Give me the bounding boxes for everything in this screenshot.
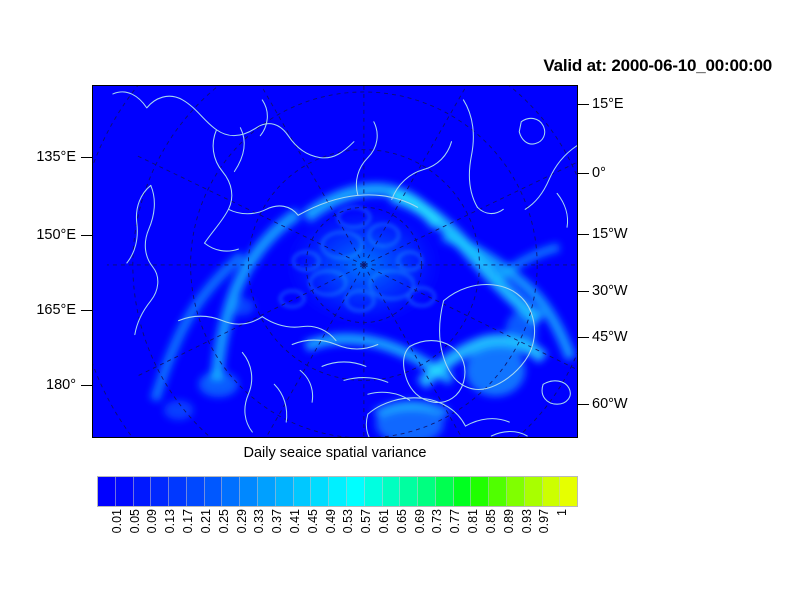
axis-tick-right-1: [578, 173, 589, 174]
colorbar-tick-0.93: 0.93: [521, 509, 534, 533]
colorbar-tick-0.81: 0.81: [467, 509, 480, 533]
axis-tick-right-2: [578, 234, 589, 235]
colorbar-band-24: [525, 477, 543, 506]
colorbar-tick-0.21: 0.21: [200, 509, 213, 533]
colorbar-band-1: [116, 477, 134, 506]
axis-tick-right-4: [578, 337, 589, 338]
colorbar-band-22: [489, 477, 507, 506]
colorbar-band-11: [294, 477, 312, 506]
colorbar-band-26: [560, 477, 577, 506]
colorbar-tick-0.05: 0.05: [129, 509, 142, 533]
map-svg: [93, 86, 577, 437]
axis-tick-left-0: [81, 157, 92, 158]
colorbar-band-14: [347, 477, 365, 506]
axis-tick-left-2: [81, 310, 92, 311]
colorbar-tick-0.29: 0.29: [236, 509, 249, 533]
colorbar-band-0: [98, 477, 116, 506]
axis-tick-right-3: [578, 291, 589, 292]
colorbar-tick-0.53: 0.53: [342, 509, 355, 533]
colorbar-tick-0.97: 0.97: [538, 509, 551, 533]
colorbar-band-7: [222, 477, 240, 506]
colorbar-band-21: [471, 477, 489, 506]
figure-canvas: Valid at: 2000-06-10_00:00:00: [0, 0, 792, 612]
map-plot-area[interactable]: [92, 85, 578, 438]
colorbar-tick-1: 1: [556, 509, 569, 516]
axis-label-left-165E: 165°E: [36, 303, 76, 318]
colorbar-tick-0.41: 0.41: [289, 509, 302, 533]
colorbar-tick-0.01: 0.01: [111, 509, 124, 533]
colorbar-tick-0.57: 0.57: [360, 509, 373, 533]
colorbar-tick-0.17: 0.17: [182, 509, 195, 533]
colorbar-band-25: [543, 477, 561, 506]
axis-label-left-180: 180°: [46, 378, 76, 393]
colorbar-band-23: [507, 477, 525, 506]
colorbar[interactable]: [97, 476, 578, 507]
axis-label-right-45W: 45°W: [592, 330, 628, 345]
colorbar-tick-0.69: 0.69: [414, 509, 427, 533]
axis-tick-left-1: [81, 235, 92, 236]
axis-label-right-30W: 30°W: [592, 284, 628, 299]
axis-tick-right-0: [578, 104, 589, 105]
colorbar-band-12: [311, 477, 329, 506]
colorbar-band-17: [400, 477, 418, 506]
colorbar-tick-0.85: 0.85: [485, 509, 498, 533]
colorbar-band-20: [454, 477, 472, 506]
colorbar-band-19: [436, 477, 454, 506]
axis-tick-left-3: [81, 385, 92, 386]
axis-label-right-0: 0°: [592, 166, 606, 181]
axis-label-right-15E: 15°E: [592, 97, 624, 112]
colorbar-tick-0.13: 0.13: [164, 509, 177, 533]
page-title: Valid at: 2000-06-10_00:00:00: [0, 56, 772, 76]
colorbar-tick-0.61: 0.61: [378, 509, 391, 533]
colorbar-tick-labels: 0.010.050.090.130.170.210.250.290.330.37…: [97, 509, 578, 573]
colorbar-band-18: [418, 477, 436, 506]
colorbar-band-13: [329, 477, 347, 506]
colorbar-gradient: [97, 476, 578, 507]
colorbar-band-16: [383, 477, 401, 506]
axis-label-right-15W: 15°W: [592, 227, 628, 242]
colorbar-band-8: [240, 477, 258, 506]
axis-label-left-135E: 135°E: [36, 150, 76, 165]
colorbar-tick-0.45: 0.45: [307, 509, 320, 533]
colorbar-tick-0.25: 0.25: [218, 509, 231, 533]
colorbar-tick-0.89: 0.89: [503, 509, 516, 533]
axis-label-right-60W: 60°W: [592, 397, 628, 412]
colorbar-band-4: [169, 477, 187, 506]
colorbar-band-6: [205, 477, 223, 506]
colorbar-band-5: [187, 477, 205, 506]
colorbar-tick-0.37: 0.37: [271, 509, 284, 533]
colorbar-band-15: [365, 477, 383, 506]
colorbar-band-2: [134, 477, 152, 506]
colorbar-tick-0.09: 0.09: [146, 509, 159, 533]
axis-label-left-150E: 150°E: [36, 228, 76, 243]
colorbar-tick-0.49: 0.49: [325, 509, 338, 533]
axis-tick-right-5: [578, 404, 589, 405]
colorbar-caption: Daily seaice spatial variance: [92, 445, 578, 461]
colorbar-tick-0.77: 0.77: [449, 509, 462, 533]
colorbar-tick-0.33: 0.33: [253, 509, 266, 533]
colorbar-tick-0.65: 0.65: [396, 509, 409, 533]
colorbar-band-10: [276, 477, 294, 506]
colorbar-band-9: [258, 477, 276, 506]
colorbar-band-3: [151, 477, 169, 506]
colorbar-tick-0.73: 0.73: [431, 509, 444, 533]
